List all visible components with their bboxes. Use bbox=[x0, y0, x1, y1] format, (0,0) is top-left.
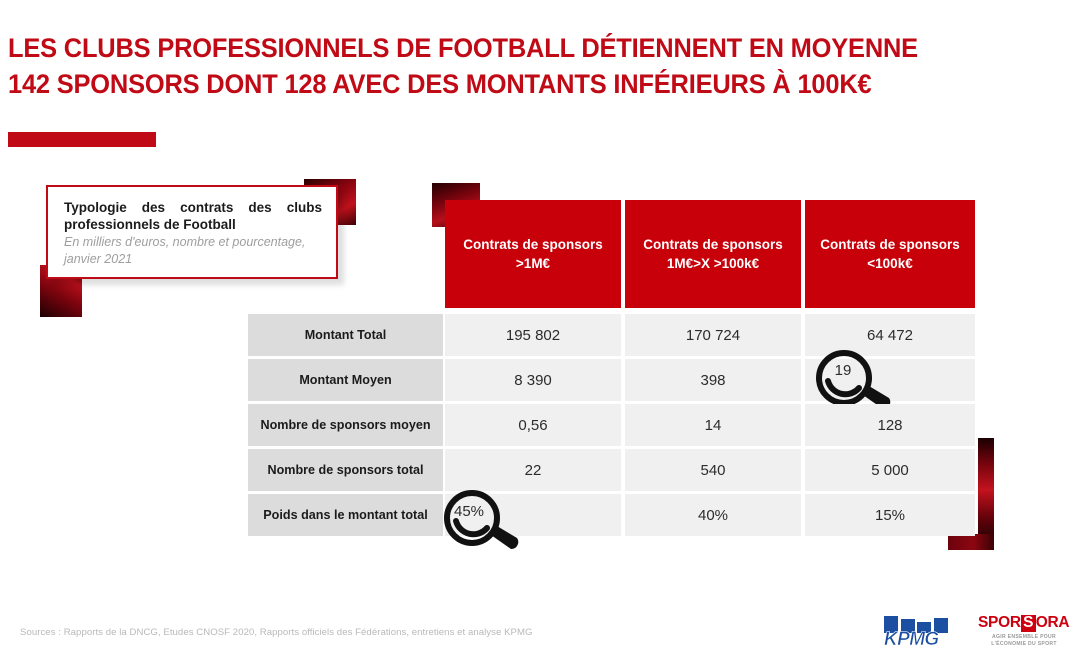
table-cell: 540 bbox=[625, 449, 801, 491]
page-title: LES CLUBS PROFESSIONNELS DE FOOTBALL DÉT… bbox=[8, 30, 978, 102]
table-row: Nombre de sponsors total 22 540 5 000 bbox=[248, 449, 975, 491]
column-header-under-100k: Contrats de sponsors <100k€ bbox=[805, 200, 975, 308]
table-cell: 15% bbox=[805, 494, 975, 536]
column-header-line1: Contrats de sponsors bbox=[643, 235, 783, 254]
column-header-line1: Contrats de sponsors bbox=[463, 235, 603, 254]
row-label: Nombre de sponsors moyen bbox=[248, 404, 443, 446]
sportsora-word-pre: SPOR bbox=[978, 614, 1021, 632]
kpmg-logo: KPMG bbox=[884, 616, 960, 648]
table-row: Montant Total 195 802 170 724 64 472 bbox=[248, 314, 975, 356]
table-cell-highlighted: 19 bbox=[805, 359, 975, 401]
kpmg-wordmark: KPMG bbox=[884, 629, 939, 651]
table-cell-highlighted: 45% bbox=[445, 494, 621, 536]
sportsora-word-post: ORA bbox=[1036, 614, 1070, 632]
magnifier-icon: 45% bbox=[439, 488, 525, 550]
row-label: Montant Moyen bbox=[248, 359, 443, 401]
slide-canvas: LES CLUBS PROFESSIONNELS DE FOOTBALL DÉT… bbox=[0, 0, 1085, 659]
column-header-over-1m: Contrats de sponsors >1M€ bbox=[445, 200, 621, 308]
table-cell: 14 bbox=[625, 404, 801, 446]
table-cell: 40% bbox=[625, 494, 801, 536]
caption-title: Typologie des contrats des clubs profess… bbox=[64, 199, 322, 233]
table-row: Nombre de sponsors moyen 0,56 14 128 bbox=[248, 404, 975, 446]
column-header-line2: >1M€ bbox=[516, 254, 550, 273]
sources-note: Sources : Rapports de la DNCG, Etudes CN… bbox=[20, 627, 533, 638]
table-cell: 0,56 bbox=[445, 404, 621, 446]
magnifier-icon: 19 bbox=[811, 348, 897, 410]
table-cell: 195 802 bbox=[445, 314, 621, 356]
row-label: Montant Total bbox=[248, 314, 443, 356]
sportsora-logo: SPOR S ORA AGIR ENSEMBLE POUR L'ÉCONOMIE… bbox=[978, 614, 1074, 647]
column-header-line2: 1M€>X >100k€ bbox=[667, 254, 759, 273]
table-cell: 22 bbox=[445, 449, 621, 491]
column-header-100k-to-1m: Contrats de sponsors 1M€>X >100k€ bbox=[625, 200, 801, 308]
sportsora-wordmark: SPOR S ORA bbox=[978, 614, 1074, 632]
table-cell: 170 724 bbox=[625, 314, 801, 356]
table-cell: 5 000 bbox=[805, 449, 975, 491]
table-cell: 128 bbox=[805, 404, 975, 446]
column-header-line2: <100k€ bbox=[867, 254, 912, 273]
row-label: Poids dans le montant total bbox=[248, 494, 443, 536]
table-cell: 64 472 bbox=[805, 314, 975, 356]
magnifier-value: 19 bbox=[820, 362, 866, 379]
table-cell: 8 390 bbox=[445, 359, 621, 401]
caption-subtitle: En milliers d'euros, nombre et pourcenta… bbox=[64, 234, 322, 268]
magnifier-value: 45% bbox=[446, 503, 492, 520]
table-row: Montant Moyen 8 390 398 19 bbox=[248, 359, 975, 401]
table-body: Montant Total 195 802 170 724 64 472 Mon… bbox=[248, 314, 975, 536]
table-cell: 398 bbox=[625, 359, 801, 401]
table-row: Poids dans le montant total 45% 40% 15% bbox=[248, 494, 975, 536]
title-underline-bar bbox=[8, 132, 156, 147]
logo-group: KPMG SPOR S ORA AGIR ENSEMBLE POUR L'ÉCO… bbox=[884, 612, 1074, 652]
table-header-row: Contrats de sponsors >1M€ Contrats de sp… bbox=[445, 200, 975, 308]
sportsora-tagline: AGIR ENSEMBLE POUR L'ÉCONOMIE DU SPORT bbox=[978, 634, 1070, 647]
column-header-line1: Contrats de sponsors bbox=[820, 235, 960, 254]
row-label: Nombre de sponsors total bbox=[248, 449, 443, 491]
decor-bar-horizontal bbox=[948, 534, 994, 550]
caption-card: Typologie des contrats des clubs profess… bbox=[46, 185, 338, 279]
caption-card-group: Typologie des contrats des clubs profess… bbox=[46, 185, 352, 295]
sportsora-s-badge: S bbox=[1021, 615, 1036, 632]
decor-bar-vertical bbox=[978, 438, 994, 546]
